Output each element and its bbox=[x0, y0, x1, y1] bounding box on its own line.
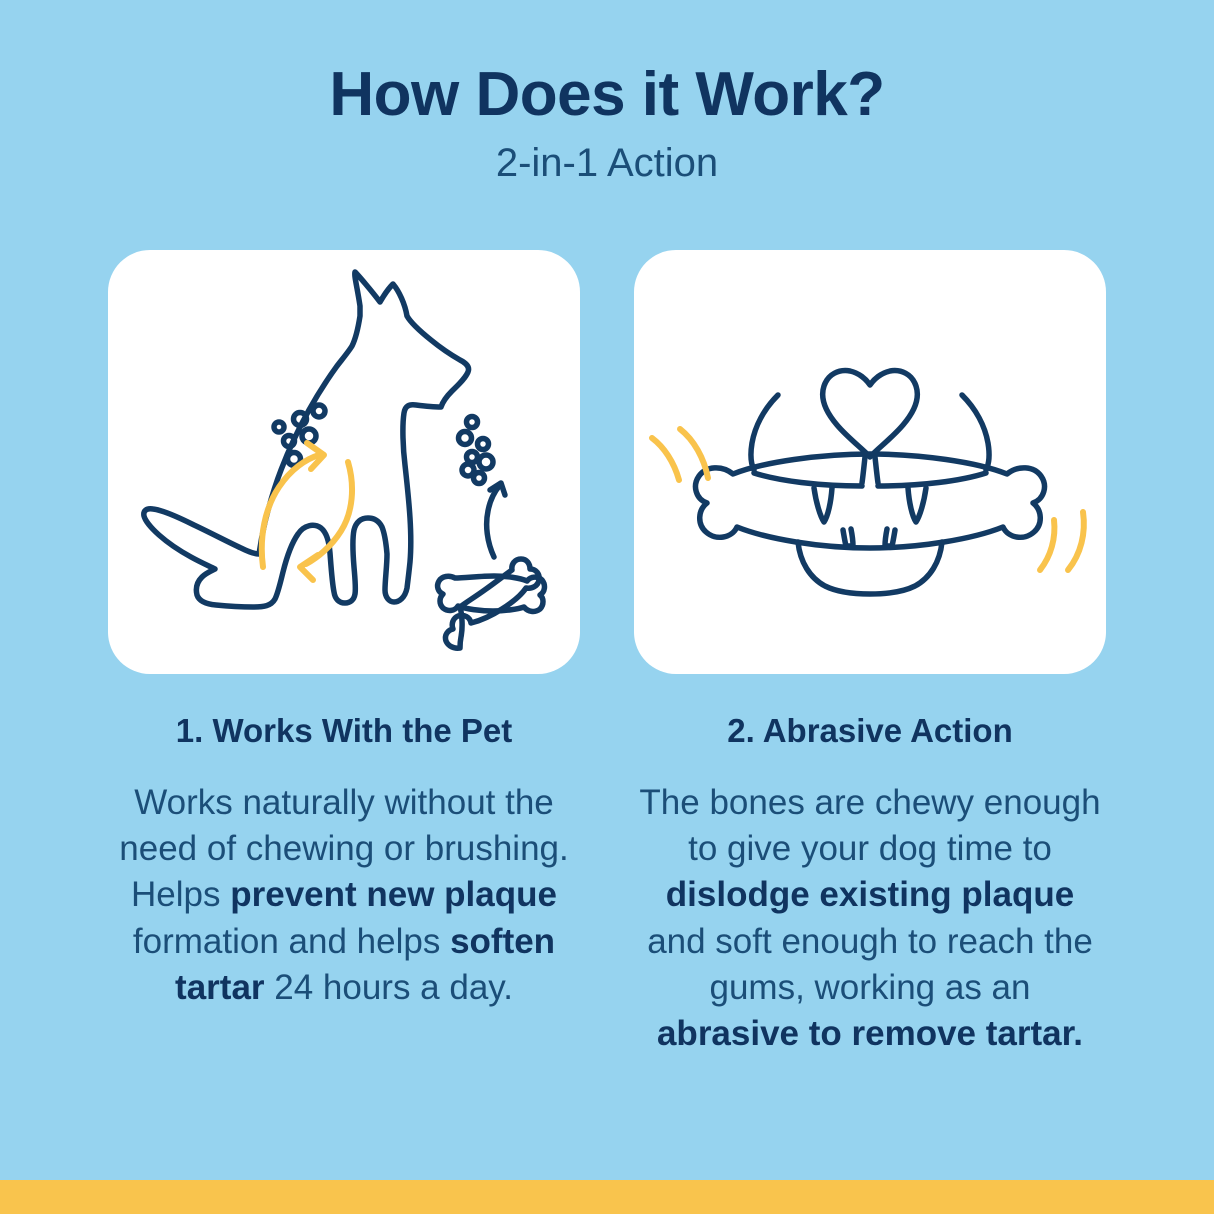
header: How Does it Work? 2-in-1 Action bbox=[0, 62, 1214, 185]
column-works-with-the-pet: 1. Works With the Pet Works naturally wi… bbox=[108, 712, 580, 1057]
yellow-accent-band bbox=[0, 1180, 1214, 1214]
text-columns: 1. Works With the Pet Works naturally wi… bbox=[108, 712, 1106, 1057]
card-works-with-the-pet bbox=[108, 250, 580, 674]
column-body-1: Works naturally without the need of chew… bbox=[108, 780, 580, 1011]
column-heading-2: 2. Abrasive Action bbox=[634, 712, 1106, 750]
page-title: How Does it Work? bbox=[0, 62, 1214, 127]
infographic-page: How Does it Work? 2-in-1 Action bbox=[0, 0, 1214, 1214]
page-subtitle: 2-in-1 Action bbox=[0, 141, 1214, 185]
circulation-arrows-icon bbox=[262, 443, 352, 580]
card-abrasive-action bbox=[634, 250, 1106, 674]
column-body-2: The bones are chewy enough to give your … bbox=[634, 780, 1106, 1057]
illustration-cards bbox=[108, 250, 1106, 674]
column-heading-1: 1. Works With the Pet bbox=[108, 712, 580, 750]
dog-mouth-illustration bbox=[634, 250, 1106, 674]
column-abrasive-action: 2. Abrasive Action The bones are chewy e… bbox=[634, 712, 1106, 1057]
sitting-dog-illustration bbox=[108, 250, 580, 674]
